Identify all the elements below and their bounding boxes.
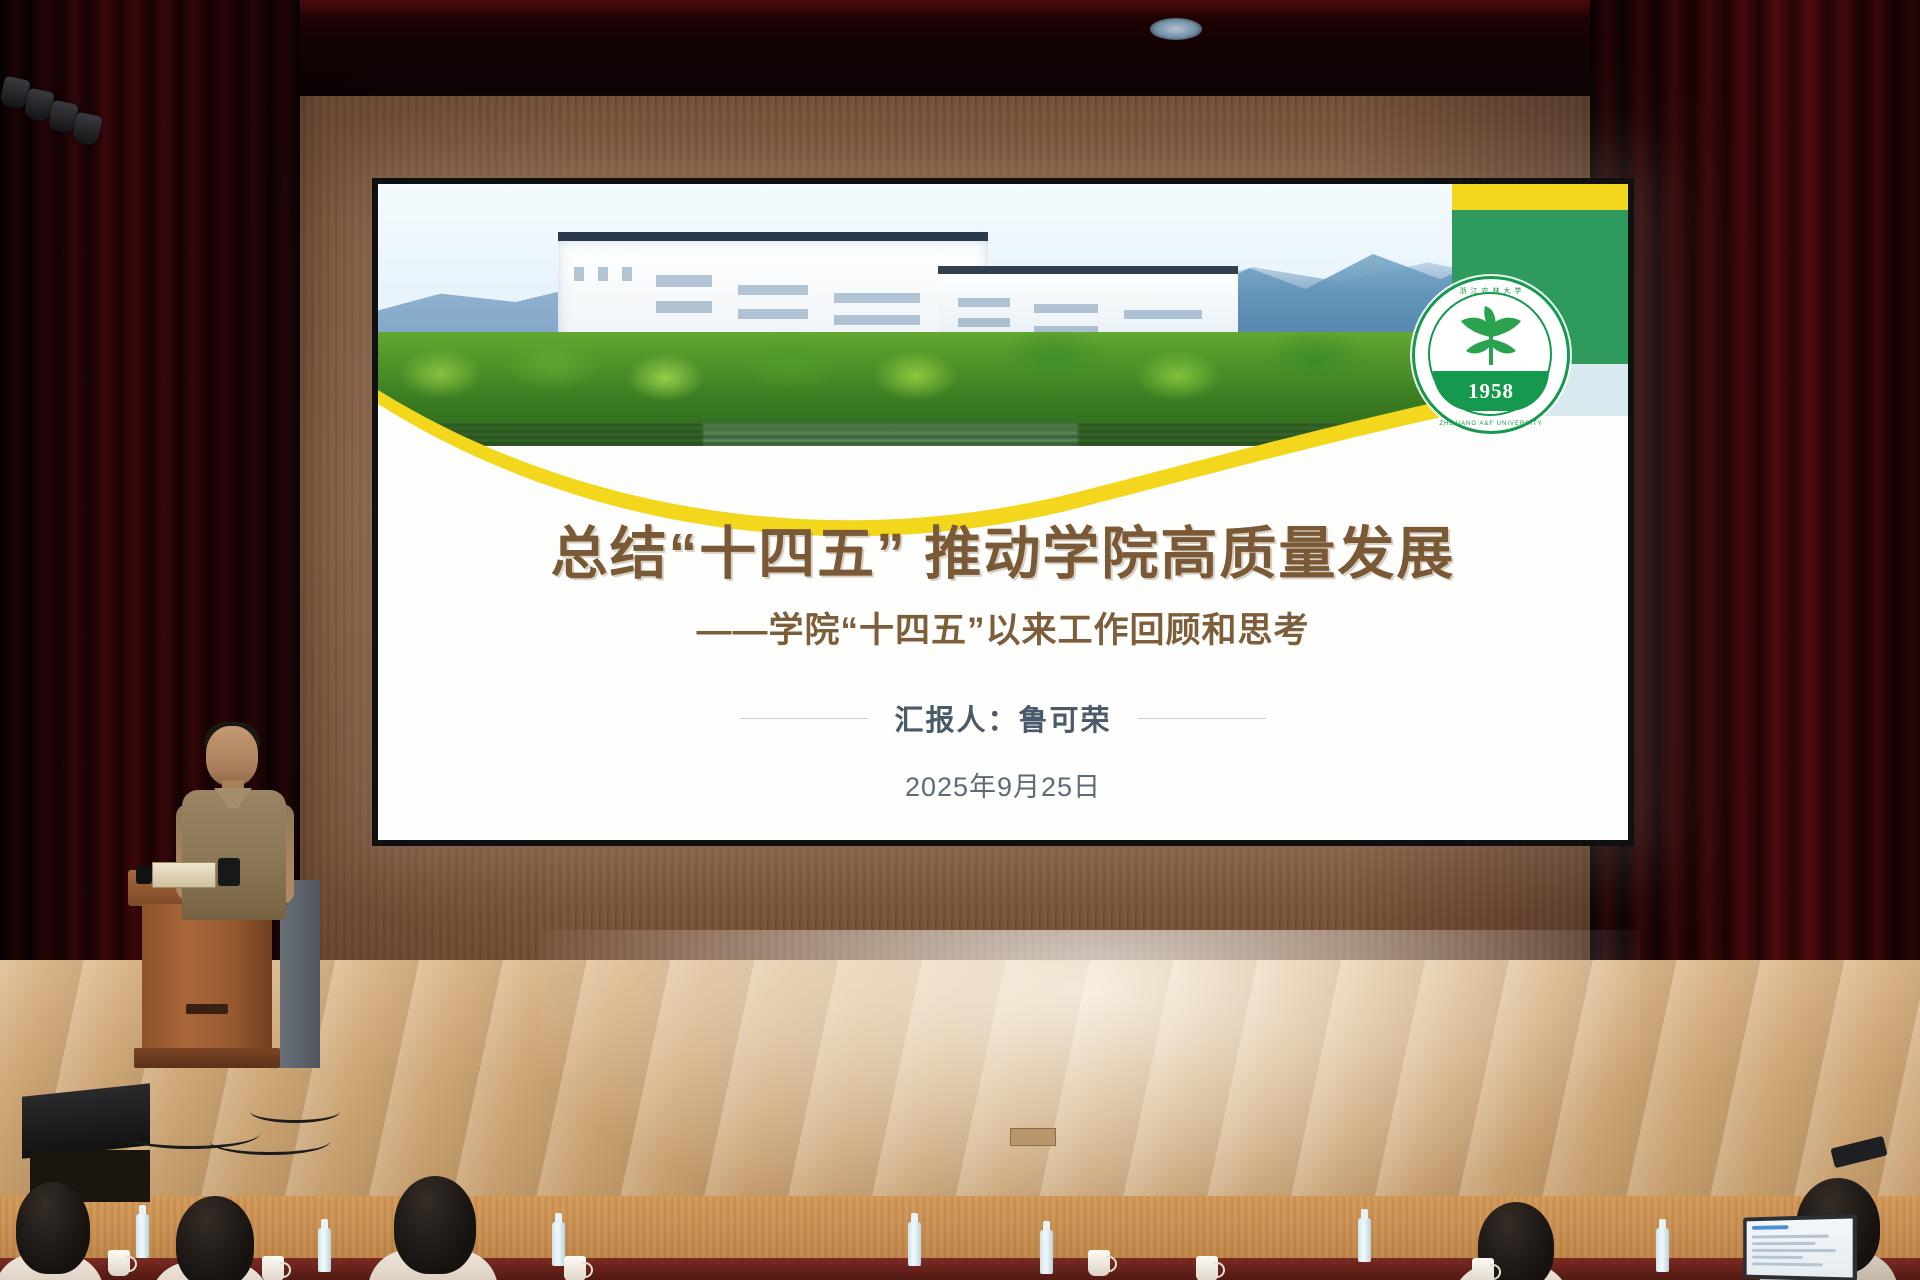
stage-light-truss [0,72,120,162]
tea-cup [564,1256,586,1280]
microphone-secondary-icon [136,866,152,884]
lectern-body [142,904,272,1054]
microphone-base-icon [218,858,240,886]
divider-left [740,718,868,719]
stage-light-icon [71,112,103,147]
seal-year-band: 1958 [1433,371,1549,411]
divider-right [1138,718,1266,719]
attendee-head [394,1176,476,1274]
water-bottle [318,1228,331,1272]
projection-screen: 浙 江 农 林 大 学 1958 ZHEJIANG A&F UNIVERSITY [372,178,1634,846]
slide-subtitle: ——学院“十四五”以来工作回顾和思考 [378,602,1628,653]
floor-cable-plate [1010,1128,1056,1146]
ginkgo-leaf-icon [1445,305,1537,367]
tea-cup [1196,1256,1218,1280]
laptop-screen [1747,1219,1853,1278]
auditorium-scene: 浙 江 农 林 大 学 1958 ZHEJIANG A&F UNIVERSITY [0,0,1920,1280]
presenter-torso [182,790,286,920]
slide-text-block: 总结“十四五” 推动学院高质量发展 ——学院“十四五”以来工作回顾和思考 汇报人… [378,446,1628,840]
lectern-plaque [186,1004,228,1014]
attendee-head [176,1196,254,1280]
water-bottle [1358,1218,1371,1262]
water-bottle [1040,1230,1053,1274]
presenter-row: 汇报人：鲁可荣 [378,697,1628,739]
water-bottle [136,1214,149,1258]
lectern-base [134,1048,280,1068]
cable [250,1100,340,1123]
slide-title: 总结“十四五” 推动学院高质量发展 [378,508,1628,590]
tea-cup [262,1256,284,1280]
presenter-head [206,726,258,786]
slide-date: 2025年9月25日 [378,765,1628,804]
water-bottle [1656,1228,1669,1272]
ceiling-spotlight-icon [1150,18,1202,40]
university-seal-icon: 浙 江 农 林 大 学 1958 ZHEJIANG A&F UNIVERSITY [1412,276,1570,434]
attendee-head [16,1182,90,1274]
tea-cup [1088,1250,1110,1276]
presentation-slide: 浙 江 农 林 大 学 1958 ZHEJIANG A&F UNIVERSITY [378,184,1628,840]
tea-cup [108,1250,130,1276]
tea-cup [1472,1258,1494,1280]
seal-english-name: ZHEJIANG A&F UNIVERSITY [1415,421,1567,427]
seal-year: 1958 [1468,379,1514,404]
slide-accent-yellow [1452,184,1628,210]
slide-presenter: 汇报人：鲁可荣 [894,697,1111,739]
cable [210,1128,330,1155]
water-bottle [908,1222,921,1266]
attendee-laptop [1743,1214,1857,1280]
stage-curtain-right [1590,0,1920,1010]
desk-nameplate [152,862,216,888]
